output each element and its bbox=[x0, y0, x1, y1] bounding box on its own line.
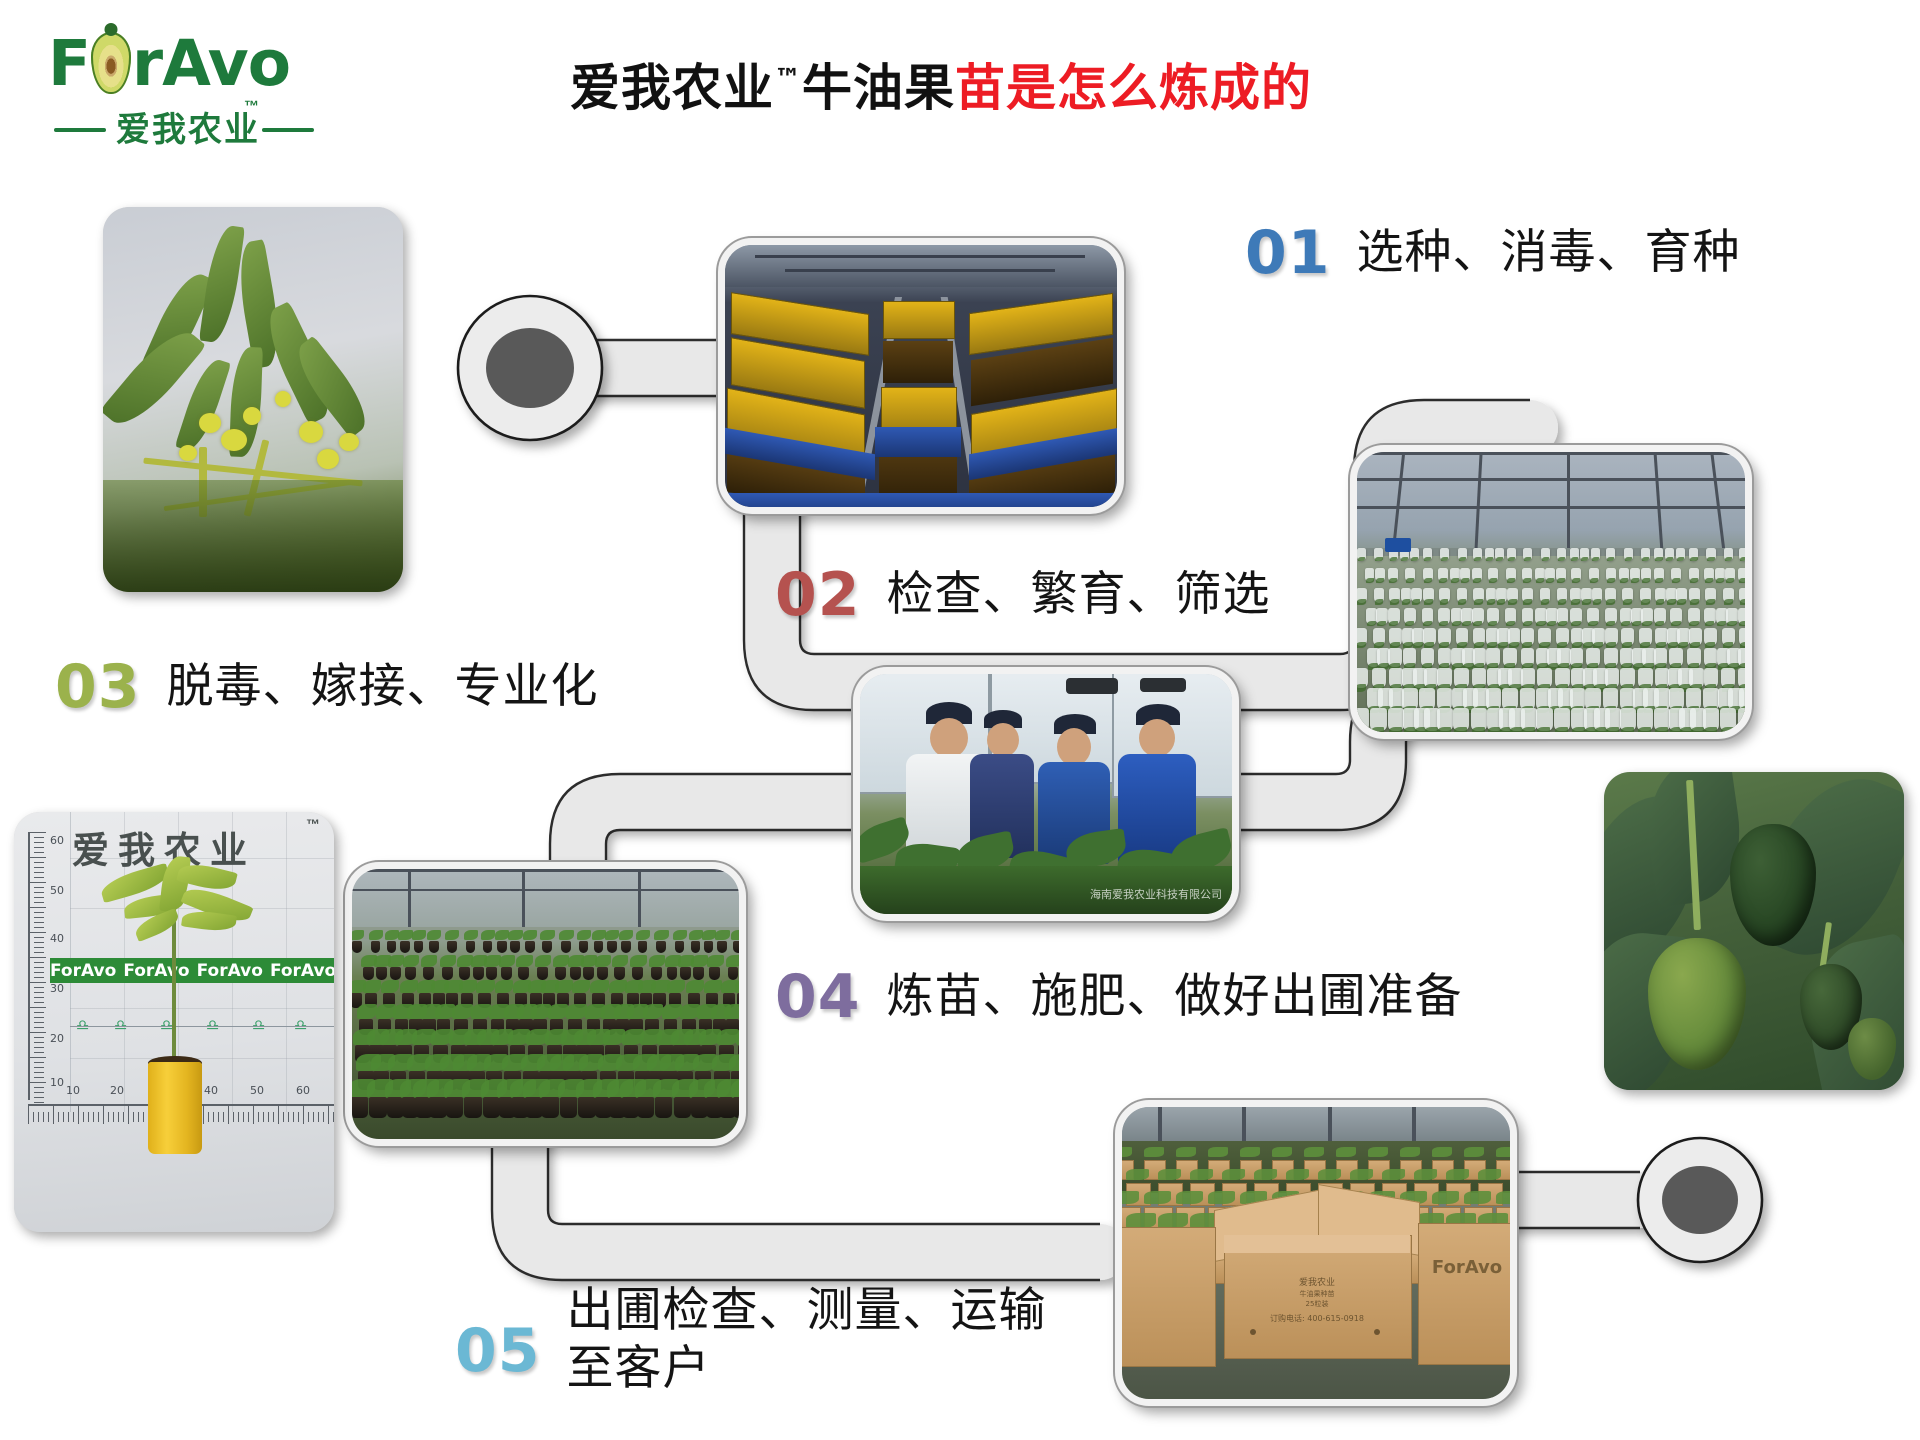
title-part-highlight: 苗是怎么炼成的 bbox=[955, 59, 1312, 117]
page-title: 爱我农业™牛油果苗是怎么炼成的 bbox=[570, 48, 1312, 120]
box-brand-text: 爱我农业 bbox=[1224, 1275, 1410, 1288]
band-brand-1: ForAvo bbox=[50, 961, 116, 981]
logo-dash-left-icon bbox=[54, 128, 106, 132]
v-tick-50: 50 bbox=[50, 884, 64, 897]
logo-word-f: F bbox=[48, 28, 90, 100]
photo-packed-shipping-boxes: 爱我农业 牛油果种苗 25粒装 订购电话: 400-615-0918 ForAv… bbox=[1115, 1100, 1517, 1406]
photo-seed-germination-trays bbox=[718, 238, 1124, 514]
step-04: 04炼苗、施肥、做好出圃准备 bbox=[775, 962, 1463, 1032]
brand-logo: FrAvo 爱我农业 ™ bbox=[48, 28, 338, 148]
step-04-text: 炼苗、施肥、做好出圃准备 bbox=[887, 968, 1463, 1026]
step-04-number: 04 bbox=[775, 962, 861, 1032]
logo-trademark-symbol: ™ bbox=[244, 98, 259, 115]
title-trademark-symbol: ™ bbox=[774, 63, 802, 94]
photo-potted-seedling-rows bbox=[345, 862, 746, 1146]
box-line3-text: 25粒装 bbox=[1224, 1299, 1410, 1309]
box-phone-text: 订购电话: 400-615-0918 bbox=[1224, 1313, 1410, 1324]
title-part-brand: 爱我农业 bbox=[570, 59, 774, 117]
step-03-text: 脱毒、嫁接、专业化 bbox=[167, 658, 599, 716]
step-02: 02检查、繁育、筛选 bbox=[775, 560, 1271, 630]
step-05-text: 出圃检查、测量、运输 至客户 bbox=[567, 1282, 1047, 1398]
h-tick-40: 40 bbox=[204, 1084, 218, 1097]
photo-avocado-flowering-branch bbox=[103, 207, 403, 592]
box-side-brand-text: ForAvo bbox=[1422, 1257, 1510, 1278]
photo-greenhouse-grafted-plants bbox=[1350, 445, 1752, 739]
board-trademark-symbol: ™ bbox=[306, 816, 320, 832]
step-02-number: 02 bbox=[775, 560, 861, 630]
photo-watermark: 海南爱我农业科技有限公司 bbox=[1090, 886, 1222, 902]
logo-chinese-name: 爱我农业 bbox=[116, 102, 260, 151]
flow-start-node bbox=[458, 296, 602, 440]
logo-wordmark: FrAvo bbox=[48, 28, 338, 100]
v-tick-20: 20 bbox=[50, 1032, 64, 1045]
photo-measured-seedling-board: 爱我农业 ™ 60 50 40 30 20 10 ForAvo ForAvo F… bbox=[14, 812, 334, 1232]
board-brand-band: ForAvo ForAvo ForAvo ForAvo bbox=[50, 958, 334, 983]
title-part-product: 牛油果 bbox=[802, 59, 955, 117]
step-03-number: 03 bbox=[55, 652, 141, 722]
v-tick-30: 30 bbox=[50, 982, 64, 995]
h-tick-60: 60 bbox=[296, 1084, 310, 1097]
step-02-text: 检查、繁育、筛选 bbox=[887, 566, 1271, 624]
h-tick-50: 50 bbox=[250, 1084, 264, 1097]
band-brand-2: ForAvo bbox=[123, 961, 189, 981]
step-01-number: 01 bbox=[1245, 218, 1331, 288]
h-tick-10: 10 bbox=[66, 1084, 80, 1097]
step-05: 05出圃检查、测量、运输 至客户 bbox=[455, 1282, 1047, 1398]
avocado-icon bbox=[91, 32, 131, 94]
logo-word-ravo: rAvo bbox=[132, 28, 290, 100]
photo-staff-inspecting-seedlings: 海南爱我农业科技有限公司 bbox=[853, 667, 1239, 921]
photo-avocado-fruit-on-tree bbox=[1604, 772, 1904, 1090]
v-tick-60: 60 bbox=[50, 834, 64, 847]
step-01-text: 选种、消毒、育种 bbox=[1357, 224, 1741, 282]
step-01: 01选种、消毒、育种 bbox=[1245, 218, 1741, 288]
flow-end-node bbox=[1638, 1138, 1762, 1262]
logo-dash-right-icon bbox=[262, 128, 314, 132]
box-line2-text: 牛油果种苗 bbox=[1224, 1289, 1410, 1299]
v-tick-40: 40 bbox=[50, 932, 64, 945]
step-03: 03脱毒、嫁接、专业化 bbox=[55, 652, 599, 722]
h-tick-20: 20 bbox=[110, 1084, 124, 1097]
step-05-number: 05 bbox=[455, 1316, 541, 1386]
v-tick-10: 10 bbox=[50, 1076, 64, 1089]
infographic-canvas: FrAvo 爱我农业 ™ 爱我农业™牛油果苗是怎么炼成的 bbox=[0, 0, 1920, 1440]
band-brand-4: ForAvo bbox=[270, 961, 334, 981]
logo-subtitle: 爱我农业 ™ bbox=[48, 102, 338, 146]
band-brand-3: ForAvo bbox=[197, 961, 263, 981]
